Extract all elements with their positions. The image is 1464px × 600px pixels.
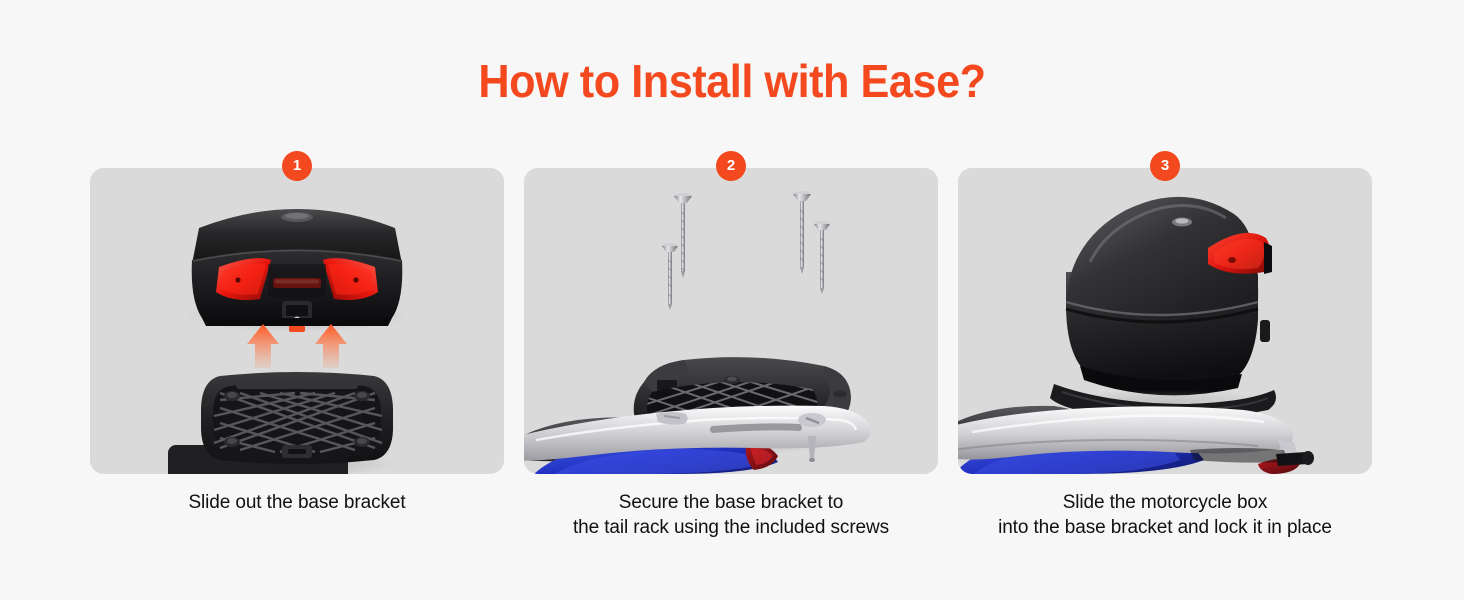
step-2: 2 [524,168,938,540]
steps-row: 1 [90,168,1374,540]
step-image-card-3 [958,168,1372,474]
motorcycle-rear [958,406,1314,474]
infographic-page: How to Install with Ease? 1 [0,0,1464,600]
base-bracket-screws-on-tail-rack-icon [524,168,938,474]
step-number-badge-1: 1 [282,151,312,181]
step-caption-2: Secure the base bracket to the tail rack… [573,490,889,540]
step-image-card-2 [524,168,938,474]
step-number-badge-2: 2 [716,151,746,181]
top-box-mounted-on-motorcycle-icon [958,168,1372,474]
lattice-mesh [168,445,348,474]
step-3: 3 [958,168,1372,540]
step-number-badge-3: 3 [1150,151,1180,181]
step-1: 1 [90,168,504,540]
step-image-card-1 [90,168,504,474]
top-box-group [185,209,409,332]
page-title: How to Install with Ease? [44,54,1420,108]
step-caption-3: Slide the motorcycle box into the base b… [998,490,1332,540]
top-box-and-base-bracket-exploded-icon [90,168,504,474]
step-caption-1: Slide out the base bracket [188,490,405,515]
